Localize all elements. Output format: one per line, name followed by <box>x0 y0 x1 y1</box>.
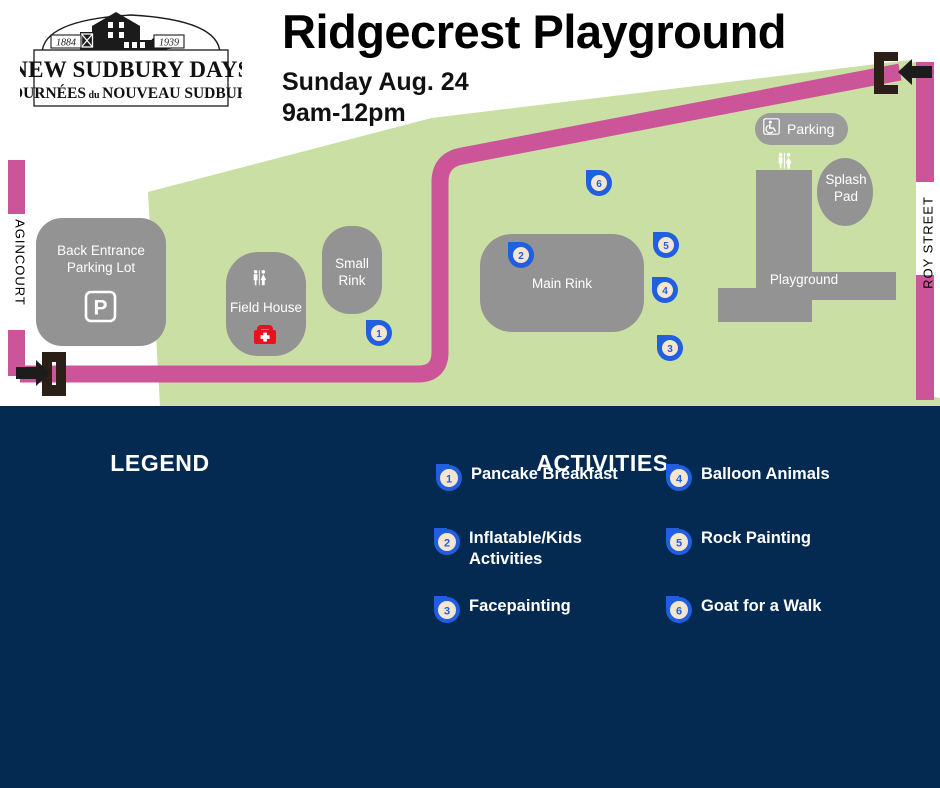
accessible-parking-pill: Parking <box>755 113 848 145</box>
label-line-1: Splash <box>817 172 875 189</box>
activity-label-4: Balloon Animals <box>701 464 830 485</box>
activity-label-2: Inflatable/Kids Activities <box>469 528 634 571</box>
label-playground: Playground <box>740 272 868 289</box>
activity-pin-3-number: 3 <box>444 606 450 618</box>
activity-pin-6-number: 6 <box>676 606 682 618</box>
label-small-rink: Small Rink <box>322 256 382 290</box>
map-pin-2-number: 2 <box>518 251 524 262</box>
label-field-house: Field House <box>218 300 314 317</box>
activity-item-1[interactable]: 1 Pancake Breakfast <box>436 464 618 492</box>
activity-label-6: Goat for a Walk <box>701 596 821 617</box>
activity-pin-5: 5 <box>666 528 692 556</box>
activity-item-3[interactable]: 3 Facepainting <box>434 596 571 624</box>
first-aid-icon-field-house <box>254 325 276 344</box>
activity-label-5: Rock Painting <box>701 528 811 549</box>
activity-pin-2: 2 <box>434 528 460 556</box>
accessible-parking-icon <box>763 118 780 140</box>
activity-label-3: Facepainting <box>469 596 571 617</box>
map-pin-4-number: 4 <box>662 286 668 297</box>
activity-pin-1: 1 <box>436 464 462 492</box>
label-line-1: Back Entrance <box>36 243 166 260</box>
map-pin-5-number: 5 <box>663 241 669 252</box>
map-pin-1-number: 1 <box>376 329 382 340</box>
agincourt-street-bar-top <box>8 160 25 214</box>
map-pin-6-number: 6 <box>596 179 602 190</box>
label-splash-pad: Splash Pad <box>817 172 875 206</box>
info-panel: LEGEND Entrance <box>0 406 940 788</box>
activity-pin-6: 6 <box>666 596 692 624</box>
activity-item-4[interactable]: 4 Balloon Animals <box>666 464 830 492</box>
label-main-rink: Main Rink <box>480 276 644 293</box>
map-pin-2[interactable]: 2 <box>508 242 534 268</box>
label-line-2: Pad <box>817 189 875 206</box>
label-line-2: Parking Lot <box>36 260 166 277</box>
legend-title: LEGEND <box>0 450 320 477</box>
activity-pin-3: 3 <box>434 596 460 624</box>
map-pin-3[interactable]: 3 <box>657 335 683 361</box>
activity-pin-1-number: 1 <box>446 474 452 486</box>
accessible-parking-pill-label: Parking <box>787 121 834 137</box>
map-pin-5[interactable]: 5 <box>653 232 679 258</box>
activities-section: ACTIVITIES 1 Pancake Breakfast <box>420 406 940 788</box>
activity-pin-5-number: 5 <box>676 538 682 550</box>
event-map-poster: P <box>0 0 940 788</box>
activity-item-2[interactable]: 2 Inflatable/Kids Activities <box>434 528 634 571</box>
map-pin-3-number: 3 <box>667 344 673 355</box>
map-pin-6[interactable]: 6 <box>586 170 612 196</box>
back-entrance-parking-lot-shape <box>36 218 166 346</box>
roy-street-bar-top <box>916 62 934 182</box>
map-graphic: P <box>0 0 940 406</box>
park-map: P <box>0 0 940 406</box>
activity-label-1: Pancake Breakfast <box>471 464 618 485</box>
street-label-agincourt: AGINCOURT <box>13 215 28 311</box>
activity-item-5[interactable]: 5 Rock Painting <box>666 528 811 556</box>
label-back-entrance-parking-lot: Back Entrance Parking Lot <box>36 243 166 277</box>
map-pin-4[interactable]: 4 <box>652 277 678 303</box>
map-pin-1[interactable]: 1 <box>366 320 392 346</box>
label-line-2: Rink <box>322 273 382 290</box>
legend-section: LEGEND Entrance <box>0 406 420 788</box>
activity-pin-4: 4 <box>666 464 692 492</box>
label-line-1: Small <box>322 256 382 273</box>
activity-pin-2-number: 2 <box>444 538 450 550</box>
street-label-roy-street: ROY STREET <box>921 188 936 298</box>
svg-text:P: P <box>93 297 107 320</box>
activity-pin-4-number: 4 <box>676 474 683 486</box>
activity-item-6[interactable]: 6 Goat for a Walk <box>666 596 821 624</box>
